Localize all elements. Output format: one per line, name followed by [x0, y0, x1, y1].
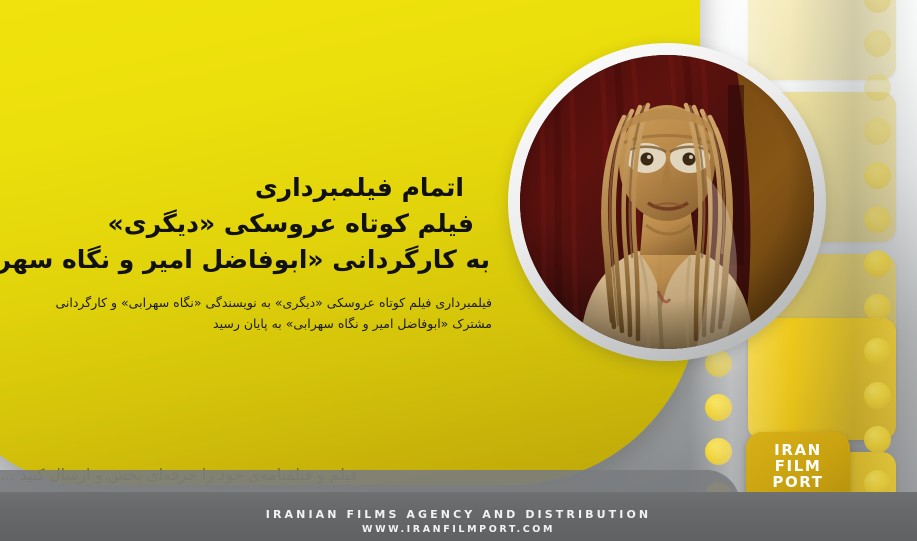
logo-wordmark: IRAN FILM PORT: [746, 442, 850, 490]
film-perforation: [864, 118, 891, 145]
film-perforation: [864, 382, 891, 409]
logo-line-film: FILM: [746, 458, 850, 474]
film-perforation: [864, 338, 891, 365]
logo-line-iran: IRAN: [746, 442, 850, 458]
headline-line-3: به کارگردانی «ابوفاضل امیر و نگاه سهرابی…: [0, 242, 500, 278]
film-perforation: [864, 206, 891, 233]
film-perforation: [705, 394, 732, 421]
film-perforation: [864, 74, 891, 101]
film-perforation: [864, 294, 891, 321]
footer-website-text: WWW.IRANFILMPORT.COM: [0, 524, 917, 535]
film-perforation: [864, 250, 891, 277]
film-perforation: [864, 426, 891, 453]
subtext-line-2: مشترک «ابوفاضل امیر و نگاه سهرابی» به پا…: [0, 313, 492, 334]
film-frame: [748, 318, 896, 440]
footer-agency-text: IRANIAN FILMS AGENCY AND DISTRIBUTION: [0, 508, 917, 521]
film-perforation: [864, 162, 891, 189]
film-perforation: [705, 438, 732, 465]
logo-line-port: PORT: [746, 474, 850, 490]
subtext-line-1: فیلمبرداری فیلم کوتاه عروسکی «دیگری» به …: [0, 292, 492, 313]
news-banner: اتمام فیلمبرداری فیلم کوتاه عروسکی «دیگر…: [0, 0, 917, 541]
subtext-block: فیلمبرداری فیلم کوتاه عروسکی «دیگری» به …: [0, 292, 502, 334]
headline-line-1: اتمام فیلمبرداری: [0, 170, 500, 206]
puppet-photo: [520, 55, 814, 349]
headline-block: اتمام فیلمبرداری فیلم کوتاه عروسکی «دیگر…: [0, 170, 500, 278]
headline-line-2: فیلم کوتاه عروسکی «دیگری»: [0, 206, 500, 242]
film-perforation: [864, 30, 891, 57]
